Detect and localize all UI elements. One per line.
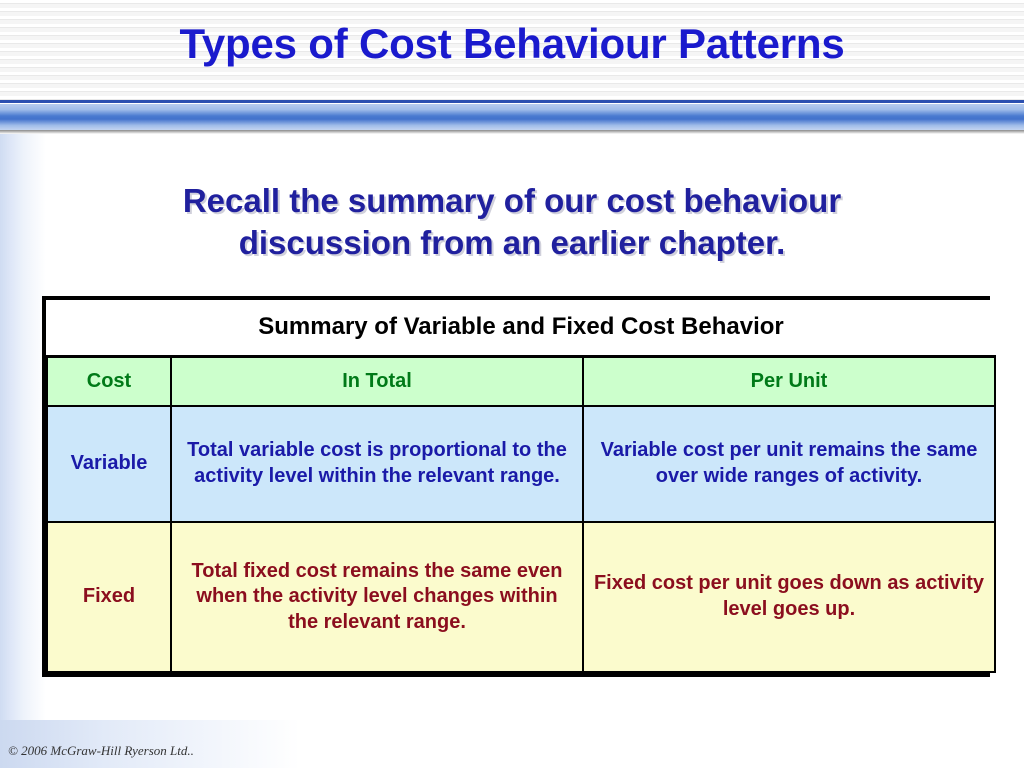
table-caption-row: Summary of Variable and Fixed Cost Behav… — [47, 300, 995, 356]
row-label-fixed: Fixed — [47, 522, 171, 672]
fixed-in-total-cell: Total fixed cost remains the same even w… — [171, 522, 583, 672]
subtitle-line-1: Recall the summary of our cost behaviour — [62, 180, 962, 222]
column-header-in-total: In Total — [171, 356, 583, 406]
table-row-fixed: Fixed Total fixed cost remains the same … — [47, 522, 995, 672]
column-header-cost: Cost — [47, 356, 171, 406]
subtitle-block: Recall the summary of our cost behaviour… — [62, 180, 962, 263]
table-row-variable: Variable Total variable cost is proporti… — [47, 406, 995, 522]
copyright-footer: © 2006 McGraw-Hill Ryerson Ltd.. — [8, 743, 194, 759]
fixed-per-unit-cell: Fixed cost per unit goes down as activit… — [583, 522, 995, 672]
table-caption: Summary of Variable and Fixed Cost Behav… — [47, 300, 995, 356]
header-divider-bar — [0, 100, 1024, 134]
summary-table-container: Summary of Variable and Fixed Cost Behav… — [42, 296, 990, 677]
row-label-variable: Variable — [47, 406, 171, 522]
column-header-per-unit: Per Unit — [583, 356, 995, 406]
subtitle-line-2: discussion from an earlier chapter. — [62, 222, 962, 264]
page-title: Types of Cost Behaviour Patterns — [0, 20, 1024, 68]
summary-table: Summary of Variable and Fixed Cost Behav… — [46, 300, 996, 673]
divider-blue-band — [0, 104, 1024, 130]
slide-canvas: Types of Cost Behaviour Patterns Recall … — [0, 0, 1024, 768]
table-header-row: Cost In Total Per Unit — [47, 356, 995, 406]
slide-header-band: Types of Cost Behaviour Patterns — [0, 0, 1024, 100]
variable-per-unit-cell: Variable cost per unit remains the same … — [583, 406, 995, 522]
divider-drop-shadow — [0, 130, 1024, 134]
variable-in-total-cell: Total variable cost is proportional to t… — [171, 406, 583, 522]
left-edge-gradient — [0, 104, 46, 768]
